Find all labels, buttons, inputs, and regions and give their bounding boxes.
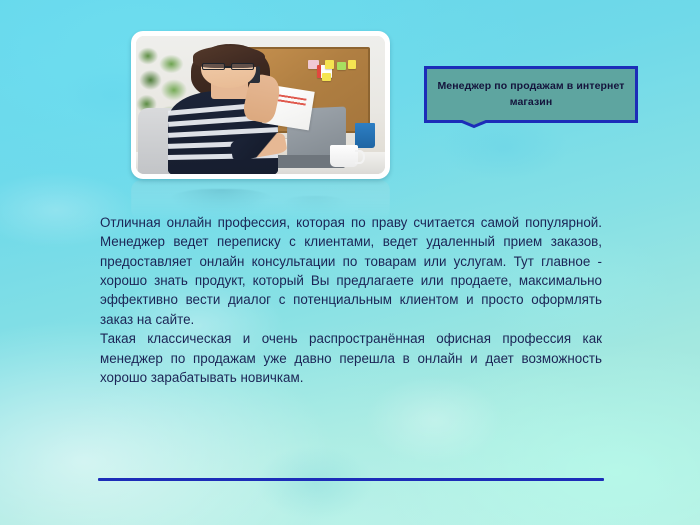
photo-frame xyxy=(131,31,390,179)
photo-container xyxy=(131,31,390,179)
callout-label: Менеджер по продажам в интернет магазин xyxy=(436,79,626,109)
woman-at-desk-photo xyxy=(136,36,385,174)
mug-icon xyxy=(330,145,357,167)
slide-canvas: Менеджер по продажам в интернет магазин … xyxy=(0,0,700,525)
paragraph-2: Такая классическая и очень распространён… xyxy=(100,329,602,387)
callout-banner: Менеджер по продажам в интернет магазин xyxy=(424,66,638,128)
paragraph-1: Отличная онлайн профессия, которая по пр… xyxy=(100,213,602,329)
bottom-divider xyxy=(98,478,604,481)
callout-text: Менеджер по продажам в интернет магазин xyxy=(424,66,638,123)
body-copy: Отличная онлайн профессия, которая по пр… xyxy=(100,213,602,387)
glasses-icon xyxy=(202,63,254,71)
